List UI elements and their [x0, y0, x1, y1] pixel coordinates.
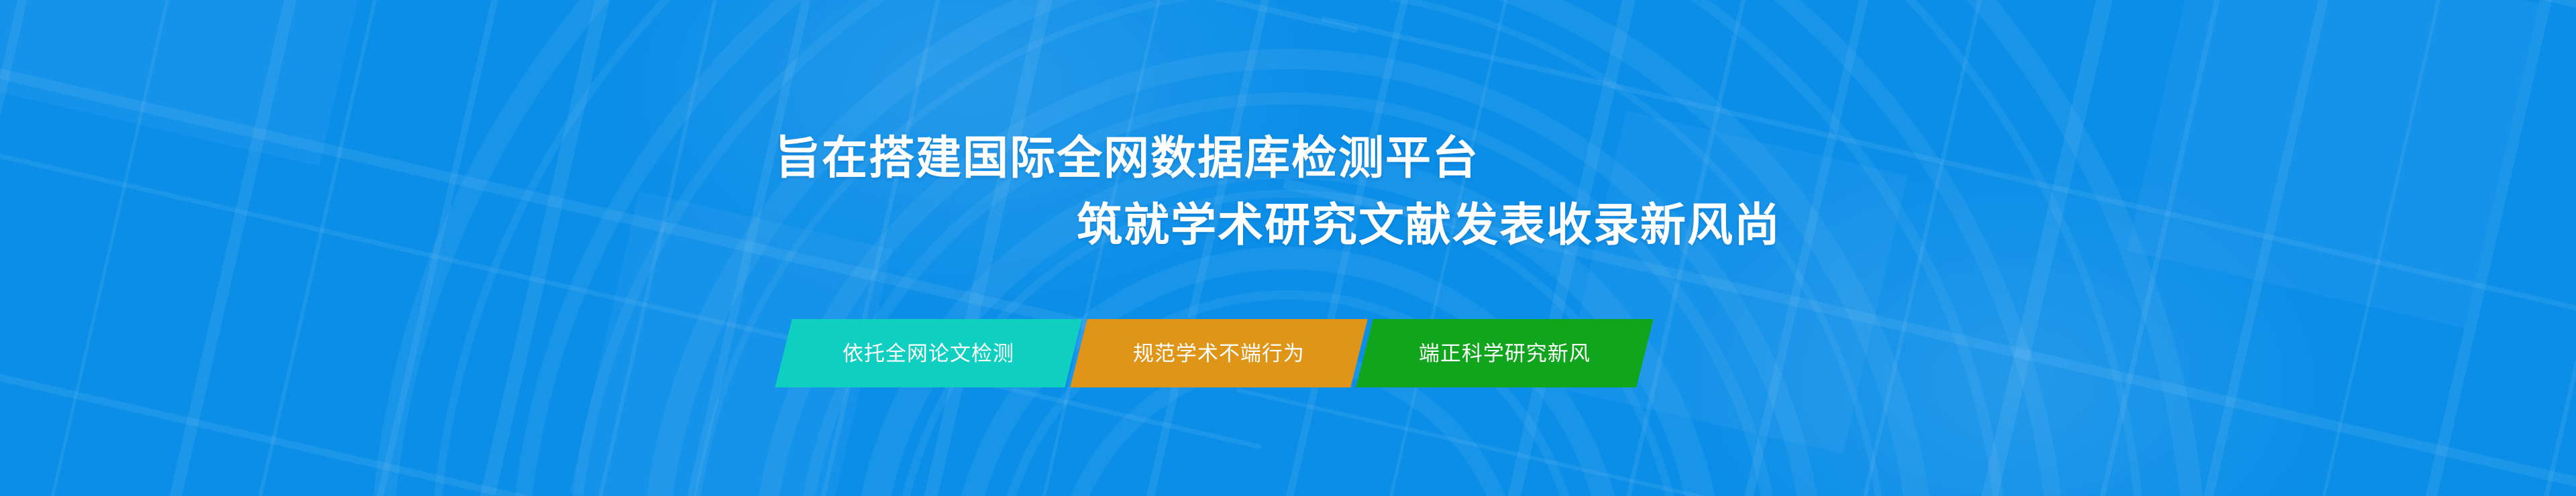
feature-badge-2-label: 规范学术不端行为 — [1133, 343, 1305, 364]
grid-vline — [826, 0, 1108, 496]
grid-hline — [0, 0, 1358, 34]
grid-vline — [0, 0, 133, 496]
grid-block — [2127, 0, 2540, 328]
grid-vline — [405, 0, 687, 496]
grid-hline — [1388, 0, 2576, 58]
feature-badge-strip: 依托全网论文检测 规范学术不端行为 端正科学研究新风 — [784, 319, 1645, 387]
grid-vline — [601, 0, 877, 496]
feature-badge-3[interactable]: 端正科学研究新风 — [1356, 319, 1653, 387]
grid-vline — [2114, 0, 2392, 496]
grid-vline — [306, 0, 580, 496]
grid-vline — [0, 0, 268, 496]
grid-vline — [194, 0, 466, 496]
grid-vline — [2226, 0, 2498, 496]
arc-ring — [751, 49, 1825, 496]
grid-hline — [1236, 387, 2576, 496]
feature-badge-2[interactable]: 规范学术不端行为 — [1070, 319, 1367, 387]
grid-vline — [2438, 0, 2576, 496]
grid-block — [1562, 111, 1908, 454]
grid-vline — [2325, 0, 2576, 496]
feature-badge-1-label: 依托全网论文检测 — [843, 343, 1014, 364]
grid-vline — [1791, 0, 2063, 496]
grid-vline — [2016, 0, 2289, 496]
feature-badge-3-label: 端正科学研究新风 — [1419, 343, 1591, 364]
headline-line-2: 筑就学术研究文献发表收录新风尚 — [1077, 202, 1781, 248]
feature-badge-1[interactable]: 依托全网论文检测 — [775, 319, 1081, 387]
headline-line-1: 旨在搭建国际全网数据库检测平台 — [775, 135, 1479, 181]
promo-banner: 旨在搭建国际全网数据库检测平台 筑就学术研究文献发表收录新风尚 依托全网论文检测… — [0, 0, 2576, 496]
grid-vline — [0, 0, 59, 496]
grid-vline — [109, 0, 389, 496]
grid-hline — [1322, 16, 2576, 346]
grid-vline — [517, 0, 789, 496]
grid-vline — [1903, 0, 2187, 496]
grid-vline — [728, 0, 1000, 496]
grid-block — [0, 0, 399, 166]
